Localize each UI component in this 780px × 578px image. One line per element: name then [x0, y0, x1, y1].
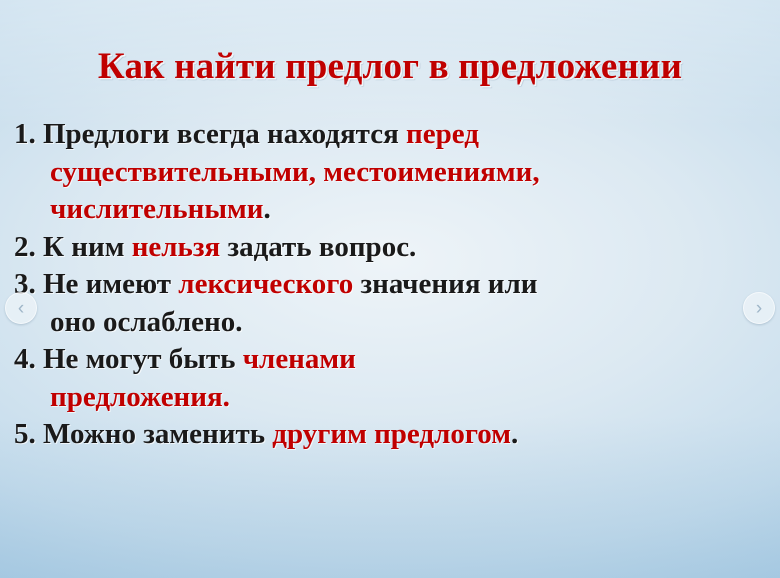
- prev-slide-button[interactable]: ‹: [5, 292, 37, 324]
- line-text-plain: оно ослаблено.: [50, 306, 242, 338]
- line-text-highlight: перед: [406, 118, 479, 150]
- list-item: предложения.: [14, 379, 766, 417]
- line-text-highlight: нельзя: [132, 231, 221, 263]
- line-text-plain: задать вопрос.: [220, 231, 416, 263]
- line-text-plain: 4. Не могут быть: [14, 343, 243, 375]
- list-item: 5. Можно заменить другим предлогом.: [14, 416, 766, 454]
- list-item: числительными.: [14, 191, 766, 229]
- line-text-highlight: числительными: [50, 193, 263, 225]
- line-text-plain: .: [511, 418, 518, 450]
- slide-body: 1. Предлоги всегда находятся перед сущес…: [14, 116, 766, 454]
- line-text-plain: значения или: [353, 268, 537, 300]
- line-text-plain: 2. К ним: [14, 231, 132, 263]
- list-item: 4. Не могут быть членами: [14, 341, 766, 379]
- list-item: 1. Предлоги всегда находятся перед: [14, 116, 766, 154]
- list-item: 2. К ним нельзя задать вопрос.: [14, 229, 766, 267]
- line-text-highlight: существительными, местоимениями,: [50, 156, 540, 188]
- line-text-plain: 5. Можно заменить: [14, 418, 272, 450]
- line-text-plain: 3. Не имеют: [14, 268, 178, 300]
- slide-container: Как найти предлог в предложении 1. Предл…: [0, 0, 780, 578]
- next-slide-button[interactable]: ›: [743, 292, 775, 324]
- chevron-left-icon: ‹: [18, 299, 24, 318]
- list-item: существительными, местоимениями,: [14, 154, 766, 192]
- line-text-highlight: членами: [243, 343, 356, 375]
- line-text-plain: .: [263, 193, 270, 225]
- line-text-plain: 1. Предлоги всегда находятся: [14, 118, 406, 150]
- line-text-highlight: лексического: [178, 268, 353, 300]
- line-text-highlight: другим предлогом: [272, 418, 511, 450]
- line-text-highlight: предложения.: [50, 381, 230, 413]
- chevron-right-icon: ›: [756, 299, 762, 318]
- page-title: Как найти предлог в предложении: [0, 45, 780, 88]
- list-item: 3. Не имеют лексического значения или: [14, 266, 766, 304]
- list-item: оно ослаблено.: [14, 304, 766, 342]
